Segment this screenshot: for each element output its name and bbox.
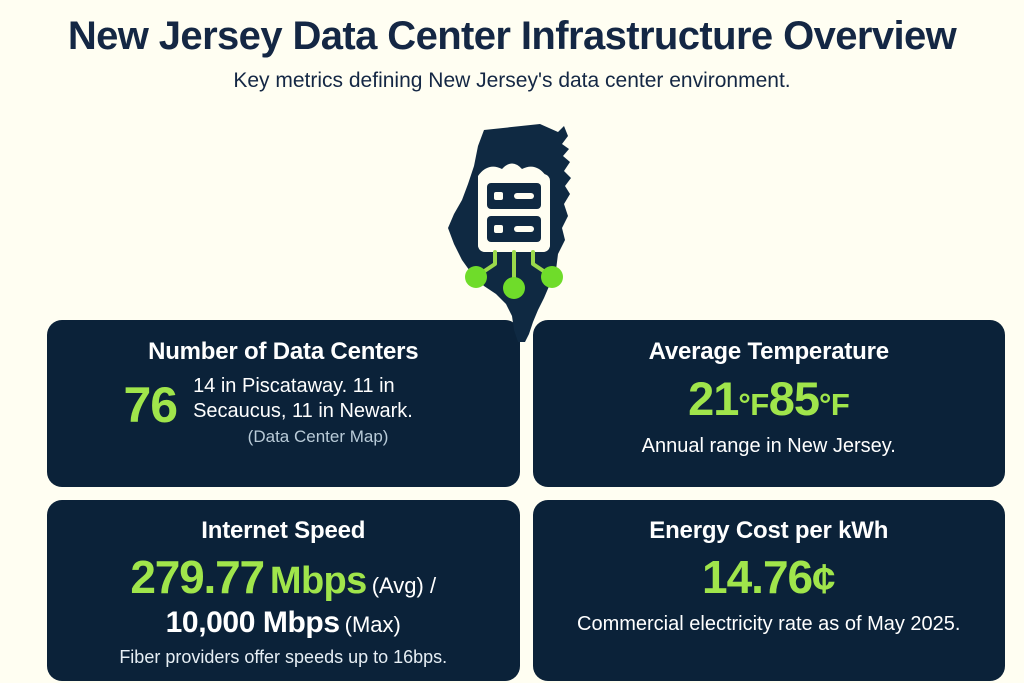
server-unit-lower	[487, 216, 541, 242]
energy-cost-value: 14.76	[702, 551, 812, 603]
internet-speed-avg-value: 279.77	[130, 551, 264, 603]
page-title: New Jersey Data Center Infrastructure Ov…	[0, 14, 1024, 59]
card-body-data-centers: 76 14 in Piscataway. 11 in Secaucus, 11 …	[67, 374, 500, 448]
data-centers-value: 76	[123, 374, 177, 430]
card-temperature[interactable]: Average Temperature 21°F85°F Annual rang…	[533, 320, 1006, 487]
internet-speed-max-value: 10,000 Mbps	[166, 606, 340, 639]
data-centers-source: (Data Center Map)	[193, 426, 443, 448]
card-internet-speed[interactable]: Internet Speed 279.77Mbps(Avg) / 10,000 …	[47, 500, 520, 681]
new-jersey-state-shape	[448, 124, 571, 342]
network-node-right	[541, 266, 563, 288]
energy-cost-footnote: Commercial electricity rate as of May 20…	[551, 611, 988, 637]
server-led-lower	[494, 225, 503, 233]
infographic-page: New Jersey Data Center Infrastructure Ov…	[0, 0, 1024, 683]
data-centers-detail-block: 14 in Piscataway. 11 in Secaucus, 11 in …	[193, 374, 443, 448]
card-title-data-centers: Number of Data Centers	[67, 338, 500, 367]
server-led-upper	[494, 192, 503, 200]
metrics-grid: Number of Data Centers 76 14 in Piscataw…	[47, 320, 1005, 681]
energy-cost-value-row: 14.76¢	[551, 554, 988, 600]
new-jersey-state-server-icon	[432, 122, 608, 344]
temperature-footnote: Annual range in New Jersey.	[553, 434, 986, 459]
header: New Jersey Data Center Infrastructure Ov…	[0, 0, 1024, 93]
network-line-left	[480, 252, 495, 274]
internet-speed-footnote: Fiber providers offer speeds up to 16bps…	[65, 646, 502, 669]
metrics-row-bottom: Internet Speed 279.77Mbps(Avg) / 10,000 …	[47, 500, 1005, 681]
temperature-value-row: 21°F85°F	[553, 375, 986, 422]
page-subtitle: Key metrics defining New Jersey's data c…	[0, 68, 1024, 93]
server-rack-body	[478, 174, 550, 252]
internet-speed-avg-qualifier: (Avg) /	[372, 573, 436, 598]
temperature-low-unit: °F	[738, 387, 768, 422]
temperature-high-value: 85	[769, 372, 819, 425]
metrics-row-top: Number of Data Centers 76 14 in Piscataw…	[47, 320, 1005, 487]
card-title-energy-cost: Energy Cost per kWh	[551, 517, 988, 546]
data-centers-detail: 14 in Piscataway. 11 in Secaucus, 11 in …	[193, 374, 443, 424]
temperature-low-value: 21	[688, 372, 738, 425]
card-data-centers[interactable]: Number of Data Centers 76 14 in Piscataw…	[47, 320, 520, 487]
server-unit-upper	[487, 183, 541, 209]
network-line-right	[533, 252, 548, 274]
server-slot-upper	[514, 193, 534, 199]
internet-speed-max-qualifier: (Max)	[345, 612, 401, 637]
card-title-temperature: Average Temperature	[553, 338, 986, 367]
network-node-left	[465, 266, 487, 288]
network-node-center	[503, 277, 525, 299]
server-backing-plate	[478, 164, 550, 253]
internet-speed-avg-unit: Mbps	[270, 560, 367, 602]
card-title-internet-speed: Internet Speed	[65, 517, 502, 546]
energy-cost-unit: ¢	[812, 555, 835, 602]
server-slot-lower	[514, 226, 534, 232]
internet-speed-max-row: 10,000 Mbps(Max)	[65, 606, 502, 639]
internet-speed-avg-row: 279.77Mbps(Avg) /	[65, 553, 502, 602]
temperature-high-unit: °F	[819, 387, 849, 422]
card-energy-cost[interactable]: Energy Cost per kWh 14.76¢ Commercial el…	[533, 500, 1006, 681]
